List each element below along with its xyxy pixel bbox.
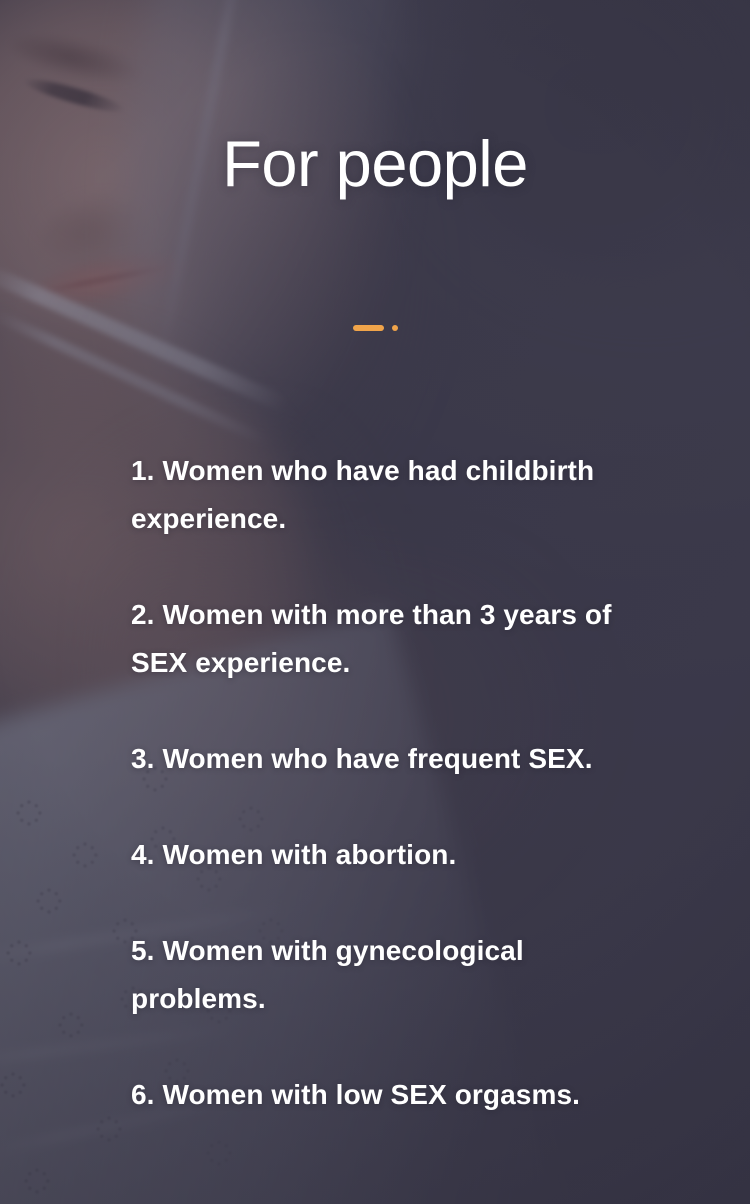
divider-dot-icon (392, 325, 398, 331)
page-title: For people (0, 131, 750, 197)
list-item-number: 4. (131, 839, 155, 870)
list-item-number: 3. (131, 743, 155, 774)
list-item: 3. Women who have frequent SEX. (131, 735, 631, 783)
list-item-number: 5. (131, 935, 155, 966)
list-item: 1. Women who have had childbirth experie… (131, 447, 631, 543)
list-item-number: 6. (131, 1079, 155, 1110)
title-divider (0, 320, 750, 336)
list-item-label: Women who have had childbirth experience… (131, 455, 594, 534)
promo-banner: For people 1. Women who have had childbi… (0, 0, 750, 1204)
list-item: 4. Women with abortion. (131, 831, 631, 879)
list-item-label: Women with more than 3 years of SEX expe… (131, 599, 612, 678)
list-item-label: Women with abortion. (155, 839, 457, 870)
divider-bar-icon (353, 325, 384, 331)
list-item: 2. Women with more than 3 years of SEX e… (131, 591, 631, 687)
banner-content: For people 1. Women who have had childbi… (0, 0, 750, 1204)
list-item: 6. Women with low SEX orgasms. (131, 1071, 631, 1119)
list-item-label: Women who have frequent SEX. (155, 743, 593, 774)
target-audience-list: 1. Women who have had childbirth experie… (131, 447, 631, 1119)
list-item-number: 1. (131, 455, 155, 486)
list-item-number: 2. (131, 599, 155, 630)
list-item: 5. Women with gynecological problems. (131, 927, 631, 1023)
list-item-label: Women with gynecological problems. (131, 935, 524, 1014)
list-item-label: Women with low SEX orgasms. (155, 1079, 580, 1110)
